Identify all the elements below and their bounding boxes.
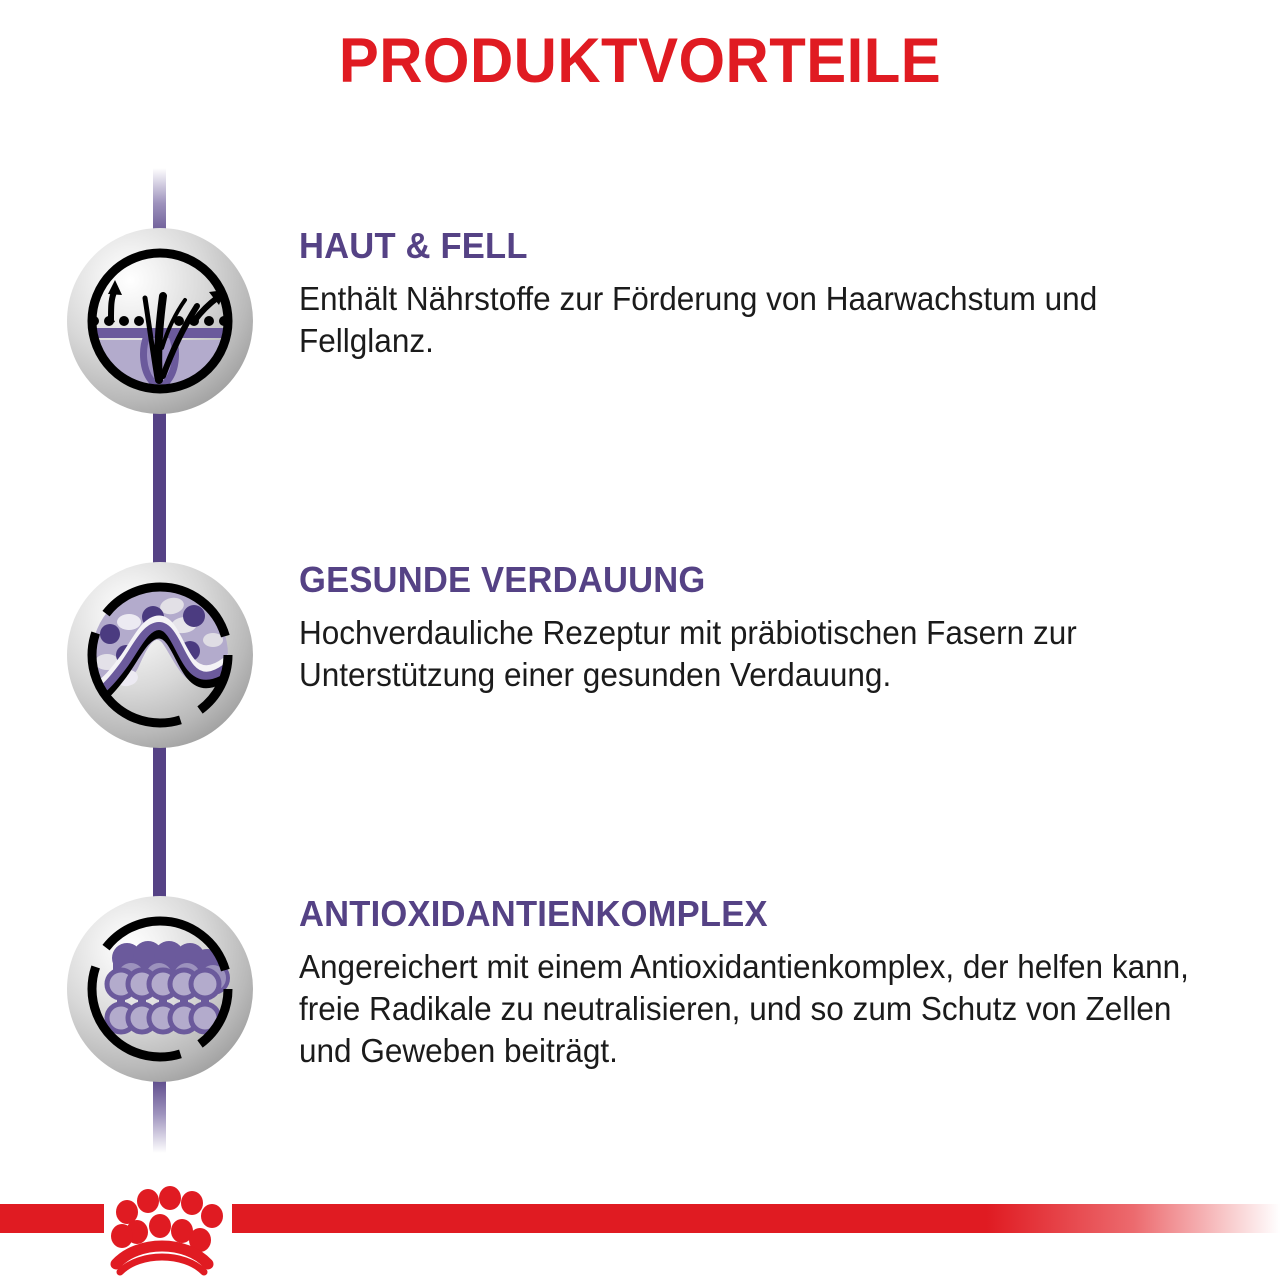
skin-and-coat-glyph [67,228,253,414]
benefit-body: Angereichert mit einem Antioxidantienkom… [299,946,1230,1072]
antioxidant-complex-icon [67,896,253,1082]
benefit-heading: ANTIOXIDANTIENKOMPLEX [299,896,1192,932]
connector-line-between-1-2 [153,400,166,572]
benefit-text-healthy-digestion: GESUNDE VERDAUUNG Hochverdauliche Rezept… [299,562,1229,696]
product-benefits-page: PRODUKTVORTEILE [0,0,1280,1280]
healthy-digestion-glyph [67,562,253,748]
benefit-heading: HAUT & FELL [299,228,1192,264]
royal-canin-crown-logo [90,1178,235,1278]
footer [0,1186,1280,1280]
connector-line-between-2-3 [153,738,166,908]
footer-bar-left [0,1204,104,1233]
antioxidant-complex-glyph [67,896,253,1082]
benefit-heading: GESUNDE VERDAUUNG [299,562,1192,598]
benefit-body: Enthält Nährstoffe zur Förderung von Haa… [299,278,1230,362]
page-title: PRODUKTVORTEILE [32,28,1248,94]
footer-bar-right [232,1204,1280,1233]
benefit-text-antioxidant-complex: ANTIOXIDANTIENKOMPLEX Angereichert mit e… [299,896,1229,1072]
skin-and-coat-icon [67,228,253,414]
connector-line-bottom [153,1075,166,1153]
benefit-text-skin-and-coat: HAUT & FELL Enthält Nährstoffe zur Förde… [299,228,1229,362]
benefit-body: Hochverdauliche Rezeptur mit präbiotisch… [299,612,1230,696]
healthy-digestion-icon [67,562,253,748]
